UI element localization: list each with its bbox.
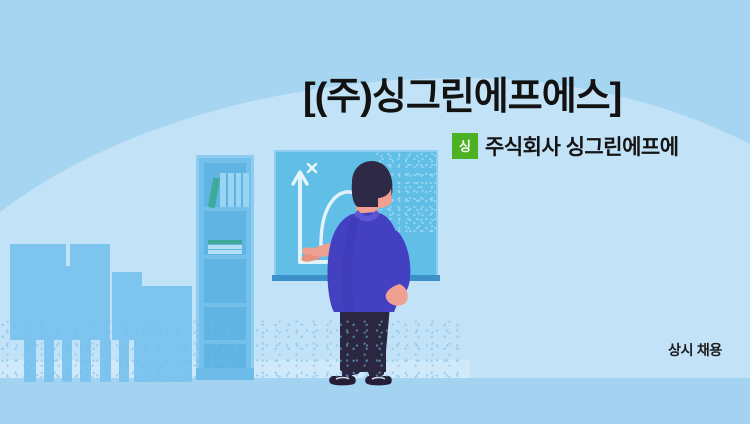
office-cabinets <box>0 240 190 380</box>
company-initial-badge: 싱 <box>452 133 478 159</box>
company-title: [(주)싱그린에프에스] <box>303 76 743 120</box>
company-legal-name: 주식회사 싱그린에프에 <box>485 131 679 161</box>
bookshelf <box>196 155 254 380</box>
presenter-figure <box>300 160 460 424</box>
bookshelf-base <box>196 368 254 380</box>
job-posting-banner: [(주)싱그린에프에스] 싱 주식회사 싱그린에프에 상시 채용 <box>0 0 750 424</box>
company-subtitle-row: 싱 주식회사 싱그린에프에 <box>452 131 679 161</box>
book-teal <box>208 177 220 208</box>
hiring-status-label: 상시 채용 <box>668 340 722 360</box>
